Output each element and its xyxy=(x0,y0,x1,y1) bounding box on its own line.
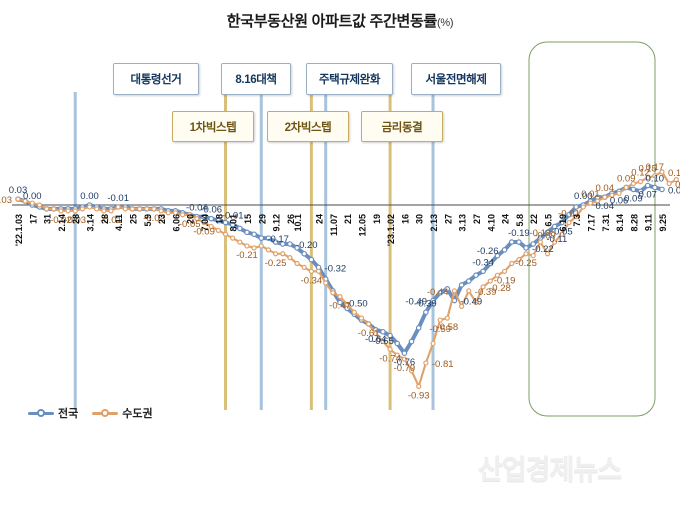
point-value-label: 0.00 xyxy=(23,191,42,202)
annotation-box-3: 서울전면해제 xyxy=(411,63,501,95)
svg-text:22: 22 xyxy=(529,214,539,224)
svg-text:9.11: 9.11 xyxy=(644,214,654,231)
point-value-label: 0.17 xyxy=(646,162,665,173)
x-axis-tick: 8.14 xyxy=(615,214,625,232)
data-point xyxy=(510,262,514,266)
x-axis-tick: 12.05 xyxy=(357,214,367,237)
svg-text:8.01: 8.01 xyxy=(229,214,239,232)
x-axis-tick: 7.3 xyxy=(572,214,582,227)
svg-text:4.11: 4.11 xyxy=(114,214,124,231)
x-axis-tick: 3.14 xyxy=(86,214,96,232)
data-point xyxy=(259,244,263,248)
annotation-box-0: 대통령선거 xyxy=(113,63,199,95)
data-point xyxy=(145,207,149,211)
svg-text:5.8: 5.8 xyxy=(515,214,525,227)
data-point xyxy=(338,295,342,299)
svg-text:20: 20 xyxy=(186,214,196,224)
x-axis-tick: 30 xyxy=(415,214,425,224)
data-point xyxy=(138,207,142,211)
svg-text:2.13: 2.13 xyxy=(429,214,439,232)
svg-text:'23.1.02: '23.1.02 xyxy=(386,214,396,246)
svg-text:31: 31 xyxy=(43,214,53,224)
data-point xyxy=(603,195,607,199)
data-point xyxy=(245,230,249,234)
annotation-label: 대통령선거 xyxy=(131,71,182,87)
point-value-label: -0.81 xyxy=(432,359,454,370)
data-point xyxy=(224,232,228,236)
data-point xyxy=(266,248,270,252)
svg-text:6.5: 6.5 xyxy=(544,214,554,227)
data-point xyxy=(631,187,635,191)
point-value-label: -0.09 xyxy=(534,230,556,241)
svg-text:7.04: 7.04 xyxy=(200,214,210,232)
x-axis-tick: 29 xyxy=(257,214,267,224)
point-value-label: -0.58 xyxy=(437,322,459,333)
point-value-label: -0.47 xyxy=(329,301,351,312)
svg-text:27: 27 xyxy=(472,214,482,224)
x-axis-tick: 22 xyxy=(529,214,539,224)
x-axis-tick: '23.1.02 xyxy=(386,214,396,246)
data-point xyxy=(66,209,70,213)
x-axis-tick: 7.31 xyxy=(601,214,611,232)
data-point xyxy=(245,244,249,248)
data-point xyxy=(59,209,63,213)
data-point xyxy=(52,207,56,211)
x-axis-tick: 31 xyxy=(43,214,53,224)
x-axis-tick: 9.25 xyxy=(658,214,668,232)
annotation-label: 금리동결 xyxy=(382,119,423,135)
data-point xyxy=(109,209,113,213)
data-point xyxy=(95,207,99,211)
point-value-label: -0.21 xyxy=(236,250,258,261)
point-value-label: -0.22 xyxy=(532,244,554,255)
svg-text:5.9: 5.9 xyxy=(143,214,153,227)
x-axis-tick: 28 xyxy=(100,214,110,224)
svg-text:24: 24 xyxy=(315,214,325,224)
data-point xyxy=(116,205,120,209)
svg-text:10.1: 10.1 xyxy=(293,214,303,232)
x-axis-tick: 17 xyxy=(28,214,38,224)
point-value-label: 0.13 xyxy=(675,180,680,191)
svg-text:12.05: 12.05 xyxy=(357,214,367,237)
x-axis-tick: 9.12 xyxy=(272,214,282,232)
data-point xyxy=(88,205,92,209)
annotation-label: 주택규제완화 xyxy=(319,71,380,87)
point-value-label: -0.93 xyxy=(408,390,430,401)
data-point xyxy=(481,269,485,273)
x-axis-tick: 20 xyxy=(186,214,196,224)
data-point xyxy=(395,341,399,345)
point-value-label: 0.03 xyxy=(0,195,12,206)
point-value-label: -0.39 xyxy=(415,298,437,309)
point-value-label: 0.04 xyxy=(596,183,615,194)
x-axis-tick: 4.11 xyxy=(114,214,124,231)
data-point xyxy=(352,310,356,314)
point-value-label: -0.20 xyxy=(296,240,318,251)
data-point xyxy=(295,262,299,266)
data-point xyxy=(402,351,406,355)
data-point xyxy=(417,326,421,330)
legend-swatch-metro xyxy=(92,408,118,418)
series-line-metro xyxy=(18,172,676,387)
point-value-label: -0.34 xyxy=(301,275,323,286)
data-point xyxy=(524,246,528,250)
svg-text:23: 23 xyxy=(157,214,167,224)
point-value-label: -0.01 xyxy=(107,193,129,204)
data-point xyxy=(388,347,392,351)
svg-text:15: 15 xyxy=(243,214,253,224)
data-point xyxy=(503,269,507,273)
data-point xyxy=(130,207,134,211)
svg-text:29: 29 xyxy=(257,214,267,224)
x-axis-tick: 27 xyxy=(472,214,482,224)
x-axis-tick: 8.28 xyxy=(629,214,639,232)
point-value-label: -0.44 xyxy=(427,287,449,298)
svg-text:8.28: 8.28 xyxy=(629,214,639,232)
annotation-box-2: 주택규제완화 xyxy=(306,63,393,95)
x-axis-tick: 21 xyxy=(343,214,353,224)
svg-text:3.13: 3.13 xyxy=(458,214,468,232)
data-point xyxy=(417,384,421,388)
data-point xyxy=(309,257,313,261)
data-point xyxy=(80,207,84,211)
x-axis-tick: 5.8 xyxy=(515,214,525,227)
x-axis-tick: 15 xyxy=(243,214,253,224)
data-point xyxy=(302,252,306,256)
data-point xyxy=(467,279,471,283)
point-value-label: -0.26 xyxy=(477,246,499,257)
svg-text:9.12: 9.12 xyxy=(272,214,282,232)
x-axis-tick: 10.1 xyxy=(293,214,303,232)
svg-text:28: 28 xyxy=(71,214,81,224)
point-value-label: -0.34 xyxy=(472,257,494,268)
legend-label-national: 전국 xyxy=(58,405,78,421)
data-point xyxy=(324,281,328,285)
data-point xyxy=(510,240,514,244)
x-axis-tick: 24 xyxy=(315,214,325,224)
data-point xyxy=(45,207,49,211)
data-point xyxy=(445,316,449,320)
x-axis-tick: 16 xyxy=(400,214,410,224)
x-axis-tick: 6.06 xyxy=(171,214,181,232)
svg-text:16: 16 xyxy=(400,214,410,224)
point-value-label: -0.61 xyxy=(358,328,380,339)
data-point xyxy=(274,252,278,256)
legend-label-metro: 수도권 xyxy=(122,405,152,421)
data-point xyxy=(73,209,77,213)
svg-text:24: 24 xyxy=(501,214,511,224)
svg-text:21: 21 xyxy=(343,214,353,224)
annotation-label: 8.16대책 xyxy=(235,71,276,87)
svg-text:7.3: 7.3 xyxy=(572,214,582,227)
point-value-label: -0.06 xyxy=(200,205,222,216)
svg-text:8.14: 8.14 xyxy=(615,214,625,232)
x-axis-tick: '22.1.03 xyxy=(14,214,24,246)
svg-text:3.14: 3.14 xyxy=(86,214,96,232)
watermark: 산업경제뉴스 xyxy=(478,448,621,487)
data-point xyxy=(367,322,371,326)
legend-item-national: 전국 xyxy=(28,405,78,421)
point-value-label: -0.79 xyxy=(394,363,416,374)
point-value-label: -0.25 xyxy=(515,258,537,269)
x-axis-tick: 2.14 xyxy=(57,214,67,232)
point-value-label: -0.49 xyxy=(460,297,482,308)
data-point xyxy=(409,339,413,343)
data-point xyxy=(467,289,471,293)
svg-text:9.25: 9.25 xyxy=(658,214,668,232)
svg-text:7.31: 7.31 xyxy=(601,214,611,232)
point-value-label: -0.19 xyxy=(494,275,516,286)
data-point xyxy=(517,240,521,244)
data-point xyxy=(231,236,235,240)
point-value-label: -0.25 xyxy=(265,258,287,269)
data-point xyxy=(459,283,463,287)
data-point xyxy=(302,265,306,269)
annotation-label: 1차빅스텝 xyxy=(190,119,237,135)
x-axis-tick: 4.10 xyxy=(486,214,496,232)
data-point xyxy=(259,236,263,240)
data-point xyxy=(639,180,643,184)
annotation-box-5: 2차빅스텝 xyxy=(267,111,349,142)
data-point xyxy=(102,209,106,213)
data-point xyxy=(37,203,41,207)
data-point xyxy=(152,207,156,211)
x-axis-tick: 9.11 xyxy=(644,214,654,231)
data-point xyxy=(317,269,321,273)
svg-text:4.10: 4.10 xyxy=(486,214,496,232)
x-axis-tick: 28 xyxy=(71,214,81,224)
svg-text:30: 30 xyxy=(415,214,425,224)
svg-text:27: 27 xyxy=(443,214,453,224)
chart-canvas: 한국부동산원 아파트값 주간변동률(%) 0.030.000.00-0.01-0… xyxy=(0,0,680,520)
x-axis-tick: 8.01 xyxy=(229,214,239,232)
data-point xyxy=(424,361,428,365)
svg-text:28: 28 xyxy=(100,214,110,224)
x-axis-tick: 18 xyxy=(214,214,224,224)
chart-legend: 전국 수도권 xyxy=(28,405,153,421)
annotation-label: 2차빅스텝 xyxy=(285,119,332,135)
svg-text:17: 17 xyxy=(28,214,38,224)
svg-text:6.19: 6.19 xyxy=(558,214,568,232)
legend-swatch-national xyxy=(28,408,54,418)
x-axis-tick: 27 xyxy=(443,214,453,224)
data-point xyxy=(524,252,528,256)
data-point xyxy=(424,310,428,314)
svg-text:7.17: 7.17 xyxy=(586,214,596,232)
svg-text:25: 25 xyxy=(128,214,138,224)
data-point xyxy=(331,291,335,295)
point-value-label: -0.19 xyxy=(508,228,530,239)
point-value-label: 0.11 xyxy=(668,168,680,179)
svg-text:6.06: 6.06 xyxy=(171,214,181,232)
legend-item-metro: 수도권 xyxy=(92,405,152,421)
point-value-label: -0.17 xyxy=(267,234,289,245)
x-axis-tick: 7.04 xyxy=(200,214,210,232)
svg-text:'22.1.03: '22.1.03 xyxy=(14,214,24,246)
data-point xyxy=(359,316,363,320)
data-point xyxy=(16,197,20,201)
data-point xyxy=(281,252,285,256)
data-point xyxy=(123,207,127,211)
svg-text:18: 18 xyxy=(214,214,224,224)
x-axis-tick: 6.5 xyxy=(544,214,554,227)
annotation-box-6: 금리동결 xyxy=(361,111,443,142)
x-axis-tick: 2.13 xyxy=(429,214,439,232)
point-value-label: 0.07 xyxy=(638,190,657,201)
data-point xyxy=(452,289,456,293)
svg-text:11.07: 11.07 xyxy=(329,214,339,236)
x-axis-tick: 11.07 xyxy=(329,214,339,236)
data-point xyxy=(216,228,220,232)
svg-text:19: 19 xyxy=(372,214,382,224)
svg-text:2.14: 2.14 xyxy=(57,214,67,232)
data-point xyxy=(431,341,435,345)
data-point xyxy=(474,273,478,277)
x-axis-tick: 25 xyxy=(128,214,138,224)
annotation-box-4: 1차빅스텝 xyxy=(172,111,254,142)
data-point xyxy=(238,240,242,244)
annotation-box-1: 8.16대책 xyxy=(221,63,291,95)
x-axis-tick: 24 xyxy=(501,214,511,224)
point-value-label: 0.00 xyxy=(80,191,99,202)
data-point xyxy=(309,269,313,273)
x-axis-tick: 23 xyxy=(157,214,167,224)
x-axis-tick: 19 xyxy=(372,214,382,224)
data-point xyxy=(252,232,256,236)
point-value-label: -0.32 xyxy=(325,263,347,274)
x-axis-tick: 7.17 xyxy=(586,214,596,232)
annotation-label: 서울전면해제 xyxy=(425,71,486,87)
data-point xyxy=(288,256,292,260)
x-axis-tick: 3.13 xyxy=(458,214,468,232)
data-point xyxy=(624,185,628,189)
x-axis-tick: 6.19 xyxy=(558,214,568,232)
data-point xyxy=(502,248,506,252)
x-axis-tick: 5.9 xyxy=(143,214,153,227)
data-point xyxy=(581,205,585,209)
data-point xyxy=(660,187,664,191)
